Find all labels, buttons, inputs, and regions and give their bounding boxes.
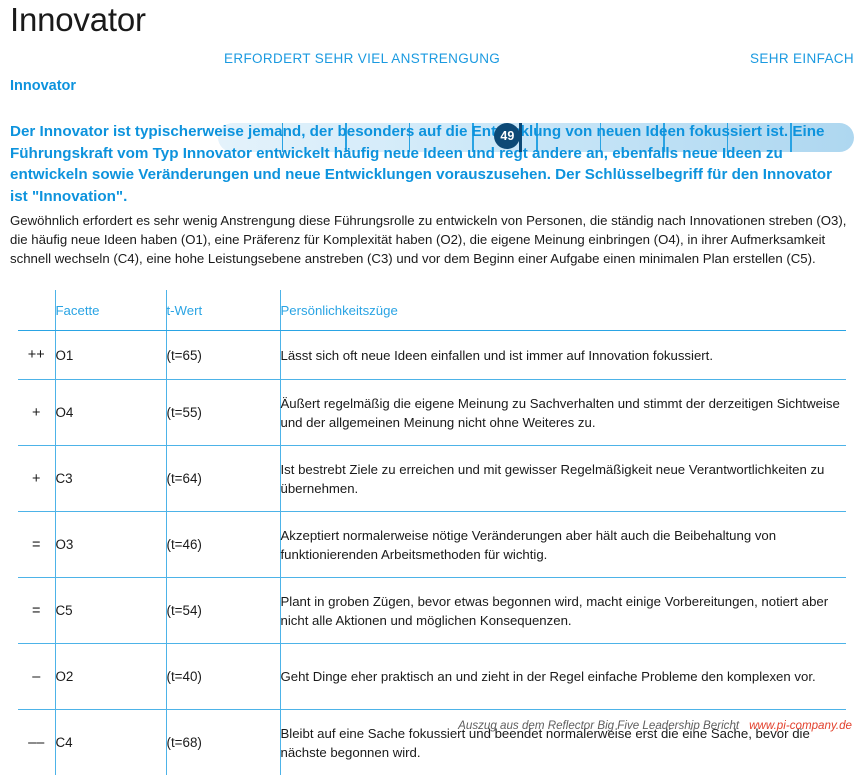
scale-label-right: SEHR EINFACH	[750, 51, 854, 66]
cell-facet: O1	[55, 331, 166, 380]
cell-tvalue: (t=40)	[166, 644, 280, 710]
cell-sign: +	[18, 446, 55, 512]
footer-url[interactable]: www.pi-company.de	[749, 719, 852, 732]
footer: Auszug aus dem Reflector Big Five Leader…	[458, 719, 852, 732]
cell-description: Äußert regelmäßig die eigene Meinung zu …	[280, 380, 846, 446]
cell-tvalue: (t=64)	[166, 446, 280, 512]
cell-sign: ++	[18, 331, 55, 380]
scale-label-left: ERFORDERT SEHR VIEL ANSTRENGUNG	[224, 51, 500, 66]
cell-tvalue: (t=68)	[166, 710, 280, 775]
footer-source: Auszug aus dem Reflector Big Five Leader…	[458, 719, 739, 732]
cell-facet: O4	[55, 380, 166, 446]
page-title: Innovator	[10, 0, 146, 40]
description-paragraph: Gewöhnlich erfordert es sehr wenig Anstr…	[10, 211, 856, 269]
cell-facet: C3	[55, 446, 166, 512]
facet-table-body: ++O1(t=65)Lässt sich oft neue Ideen einf…	[18, 331, 846, 775]
cell-facet: O3	[55, 512, 166, 578]
column-header-sign	[18, 290, 55, 331]
cell-tvalue: (t=46)	[166, 512, 280, 578]
facet-table-head: Facette t-Wert Persönlichkeitszüge	[18, 290, 846, 331]
column-header-tvalue: t-Wert	[166, 290, 280, 331]
cell-facet: C5	[55, 578, 166, 644]
cell-sign: =	[18, 512, 55, 578]
cell-sign: –	[18, 644, 55, 710]
score-scale-block: ERFORDERT SEHR VIEL ANSTRENGUNG SEHR EIN…	[0, 48, 864, 110]
cell-sign: +	[18, 380, 55, 446]
table-row: +C3(t=64)Ist bestrebt Ziele zu erreichen…	[18, 446, 846, 512]
table-row: =C5(t=54)Plant in groben Zügen, bevor et…	[18, 578, 846, 644]
cell-tvalue: (t=54)	[166, 578, 280, 644]
cell-sign: ––	[18, 710, 55, 775]
table-row: =O3(t=46)Akzeptiert normalerweise nötige…	[18, 512, 846, 578]
cell-description: Plant in groben Zügen, bevor etwas begon…	[280, 578, 846, 644]
intro-highlight-paragraph: Der Innovator ist typischerweise jemand,…	[10, 121, 848, 207]
table-row: ++O1(t=65)Lässt sich oft neue Ideen einf…	[18, 331, 846, 380]
column-header-traits: Persönlichkeitszüge	[280, 290, 846, 331]
cell-facet: O2	[55, 644, 166, 710]
cell-description: Geht Dinge eher praktisch an und zieht i…	[280, 644, 846, 710]
column-header-facet: Facette	[55, 290, 166, 331]
cell-description: Lässt sich oft neue Ideen einfallen und …	[280, 331, 846, 380]
cell-tvalue: (t=55)	[166, 380, 280, 446]
cell-description: Ist bestrebt Ziele zu erreichen und mit …	[280, 446, 846, 512]
cell-description: Akzeptiert normalerweise nötige Veränder…	[280, 512, 846, 578]
table-header-row: Facette t-Wert Persönlichkeitszüge	[18, 290, 846, 331]
table-row: +O4(t=55)Äußert regelmäßig die eigene Me…	[18, 380, 846, 446]
table-row: –O2(t=40)Geht Dinge eher praktisch an un…	[18, 644, 846, 710]
cell-tvalue: (t=65)	[166, 331, 280, 380]
cell-facet: C4	[55, 710, 166, 775]
scale-row-label: Innovator	[10, 78, 76, 94]
cell-sign: =	[18, 578, 55, 644]
facet-table: Facette t-Wert Persönlichkeitszüge ++O1(…	[18, 290, 846, 775]
